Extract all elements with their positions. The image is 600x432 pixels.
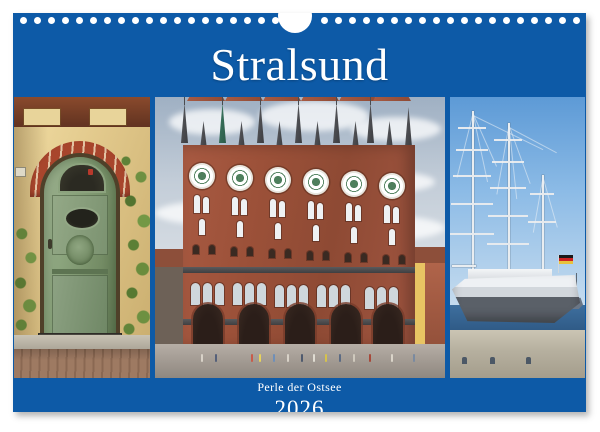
small-dark-window xyxy=(383,255,389,264)
punch-hole xyxy=(377,17,384,24)
main-storey-window xyxy=(233,283,242,305)
door-handle-icon xyxy=(48,239,52,249)
punch-hole xyxy=(321,17,328,24)
main-storey-window xyxy=(365,287,374,309)
spire-needle xyxy=(260,97,261,105)
main-storey-window xyxy=(329,285,338,307)
cloud xyxy=(351,117,441,141)
ivy-left xyxy=(14,217,40,337)
punch-hole xyxy=(503,17,510,24)
main-storey-window xyxy=(215,283,224,305)
punch-hole xyxy=(349,17,356,24)
small-dark-window xyxy=(307,251,313,260)
gable xyxy=(373,97,411,101)
small-dark-window xyxy=(285,249,291,258)
gable xyxy=(263,97,301,101)
photo-row xyxy=(14,97,585,378)
yard xyxy=(530,193,554,195)
person xyxy=(391,354,393,362)
neighbouring-building-right-rear xyxy=(425,263,445,350)
punch-hole xyxy=(475,17,482,24)
person xyxy=(259,354,261,362)
punch-hole xyxy=(90,17,97,24)
spire-needle xyxy=(298,97,299,105)
person xyxy=(301,354,303,362)
calendar-page: Stralsund xyxy=(13,13,586,412)
fanlight xyxy=(58,163,106,193)
gable xyxy=(225,97,263,101)
person xyxy=(201,354,203,362)
gable-lancet xyxy=(355,205,361,221)
gable-lancet xyxy=(346,203,352,221)
bowsprit xyxy=(452,265,476,267)
punch-hole xyxy=(272,17,279,24)
yard xyxy=(458,127,486,129)
punch-hole-strip xyxy=(13,13,586,33)
punch-hole xyxy=(76,17,83,24)
punch-hole xyxy=(230,17,237,24)
punch-hole xyxy=(118,17,125,24)
person xyxy=(313,354,315,362)
rathaus-photo xyxy=(155,97,445,378)
main-storey-window xyxy=(257,283,266,305)
yard xyxy=(494,139,522,141)
punch-hole xyxy=(202,17,209,24)
gable-lancet xyxy=(393,207,399,223)
punch-hole xyxy=(34,17,41,24)
door-medallion xyxy=(66,235,94,265)
small-dark-window xyxy=(209,245,215,254)
market-square-pavement xyxy=(155,344,445,378)
oval-window xyxy=(64,207,100,230)
arcade-arch xyxy=(239,304,269,348)
caption-block: Perle der Ostsee 2026 xyxy=(13,379,586,412)
rose-window xyxy=(341,171,367,197)
upper-brick-wall xyxy=(14,97,150,131)
door-rail xyxy=(52,269,108,274)
bollard xyxy=(462,357,467,364)
ivy-right xyxy=(120,141,150,341)
gable-lancet xyxy=(194,195,200,213)
spire-needle xyxy=(370,97,371,105)
punch-hole xyxy=(489,17,496,24)
rose-window xyxy=(303,169,329,195)
person xyxy=(215,354,217,362)
yard xyxy=(528,221,556,223)
punch-hole xyxy=(244,17,251,24)
punch-hole xyxy=(531,17,538,24)
spire-needle xyxy=(184,97,185,105)
person xyxy=(413,354,415,362)
small-dark-window xyxy=(361,253,367,262)
yard xyxy=(450,233,494,235)
punch-hole xyxy=(447,17,454,24)
gable-lancet xyxy=(313,225,319,241)
main-storey-window xyxy=(245,283,254,305)
person xyxy=(287,354,289,362)
rose-window xyxy=(379,173,405,199)
small-dark-window xyxy=(345,253,351,262)
punch-hole xyxy=(188,17,195,24)
main-storey-window xyxy=(191,283,200,305)
spire-needle xyxy=(222,97,223,105)
bollard xyxy=(490,357,495,364)
gable-lancet xyxy=(389,229,395,245)
punch-hole xyxy=(20,17,27,24)
ship-hull xyxy=(452,275,580,323)
arcade-arch xyxy=(373,304,403,348)
calendar-title: Stralsund xyxy=(13,37,586,93)
gable-lancet xyxy=(199,219,205,235)
cobblestone-street xyxy=(14,349,150,378)
cornice-band xyxy=(183,267,415,273)
punch-hole xyxy=(419,17,426,24)
arcade-arch xyxy=(331,304,361,348)
person xyxy=(339,354,341,362)
gable-lancet xyxy=(232,197,238,215)
punch-hole xyxy=(363,17,370,24)
yard xyxy=(487,243,529,245)
punch-hole xyxy=(573,17,580,24)
punch-hole xyxy=(433,17,440,24)
door-panel-lower xyxy=(52,275,108,337)
spire-needle xyxy=(336,97,337,105)
punch-hole xyxy=(146,17,153,24)
foremast xyxy=(472,111,474,279)
quay xyxy=(450,330,585,378)
green-door xyxy=(44,157,116,343)
main-storey-window xyxy=(275,285,284,307)
punch-hole xyxy=(391,17,398,24)
gable-lancet xyxy=(351,227,357,243)
gable-lancet xyxy=(241,199,247,215)
rose-window xyxy=(265,167,291,193)
yard xyxy=(490,187,526,189)
gable xyxy=(339,97,377,101)
punch-hole xyxy=(405,17,412,24)
punch-hole xyxy=(104,17,111,24)
punch-hole xyxy=(335,17,342,24)
punch-hole xyxy=(48,17,55,24)
punch-hole xyxy=(545,17,552,24)
small-dark-window xyxy=(247,247,253,256)
person xyxy=(353,354,355,362)
small-dark-window xyxy=(323,251,329,260)
arcade-arch xyxy=(285,304,315,348)
person xyxy=(369,354,371,362)
calendar-cover: Stralsund xyxy=(0,0,600,432)
punch-hole xyxy=(461,17,468,24)
small-dark-window xyxy=(269,249,275,258)
mailbox-icon xyxy=(15,167,26,177)
calendar-year: 2026 xyxy=(13,395,586,412)
gable-lancet xyxy=(275,223,281,239)
rathaus-scene xyxy=(155,97,445,378)
yard xyxy=(451,203,493,205)
green-door-photo xyxy=(14,97,150,378)
gable-lancet xyxy=(237,221,243,237)
gable xyxy=(301,97,339,101)
main-storey-window xyxy=(317,285,326,307)
small-dark-window xyxy=(399,255,405,264)
yard xyxy=(492,161,524,163)
doorbell-icon xyxy=(88,169,93,175)
gable-lancet xyxy=(270,199,276,217)
calendar-subtitle: Perle der Ostsee xyxy=(13,379,586,395)
door-scene xyxy=(14,97,150,378)
ship-scene xyxy=(450,97,585,378)
small-dark-window xyxy=(193,245,199,254)
rose-window xyxy=(189,163,215,189)
rose-window xyxy=(227,165,253,191)
punch-hole xyxy=(559,17,566,24)
gable-lancet xyxy=(279,201,285,217)
bollard xyxy=(526,357,531,364)
gable-lancet xyxy=(203,197,209,213)
punch-hole xyxy=(62,17,69,24)
gable-lancet xyxy=(308,201,314,219)
german-flag-icon xyxy=(559,255,573,264)
punch-hole xyxy=(216,17,223,24)
main-storey-window xyxy=(203,283,212,305)
mainmast xyxy=(508,123,510,279)
gable xyxy=(187,97,225,101)
arcade-arch xyxy=(193,304,223,348)
yard xyxy=(488,215,528,217)
tall-ship-photo xyxy=(450,97,585,378)
punch-hole xyxy=(174,17,181,24)
person xyxy=(325,354,327,362)
yard xyxy=(456,149,488,151)
hang-hole xyxy=(278,13,312,33)
punch-hole xyxy=(132,17,139,24)
small-dark-window xyxy=(231,247,237,256)
punch-hole xyxy=(160,17,167,24)
gable-lancet xyxy=(317,203,323,219)
punch-hole xyxy=(517,17,524,24)
gable-lancet xyxy=(384,205,390,223)
punch-hole xyxy=(258,17,265,24)
mizzenmast xyxy=(542,175,544,279)
person xyxy=(251,354,253,362)
person xyxy=(273,354,275,362)
